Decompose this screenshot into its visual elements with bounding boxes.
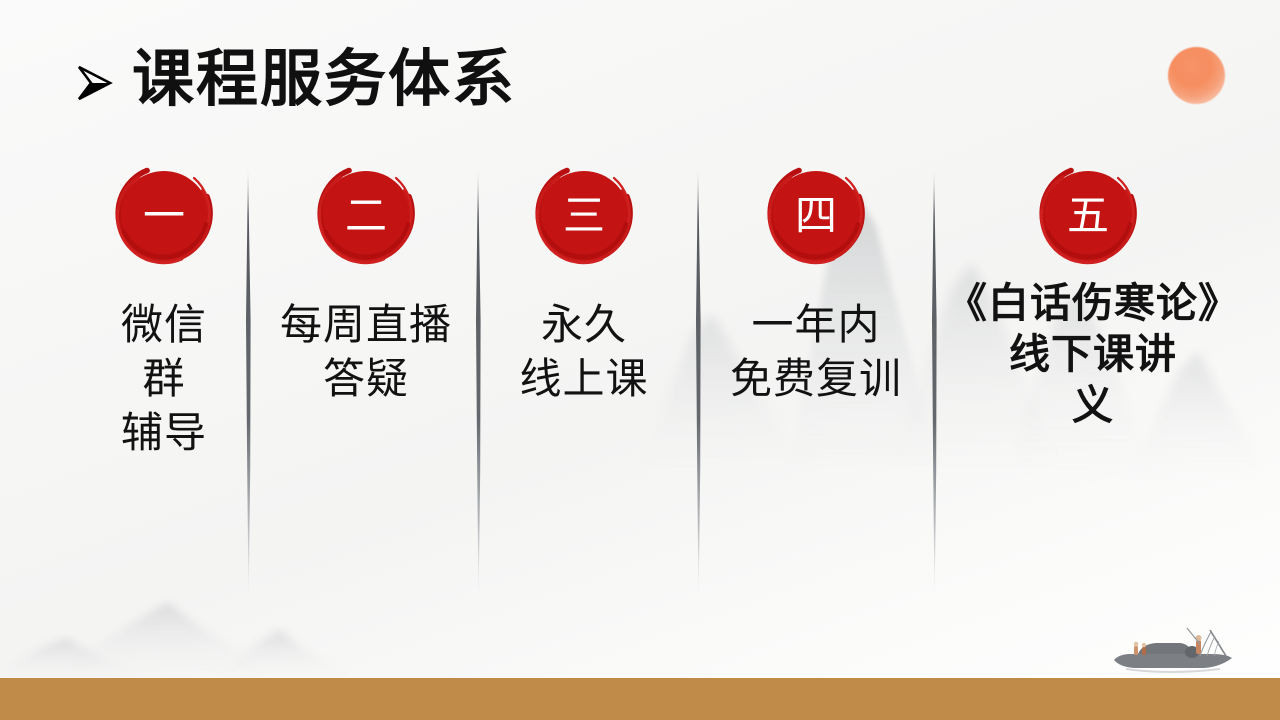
chinese-boat-icon: [1108, 622, 1236, 674]
divider-2: [471, 170, 485, 602]
divider-1: [241, 170, 255, 602]
page-title: 课程服务体系: [70, 48, 516, 110]
column-label: 一年内 免费复训: [720, 298, 912, 406]
arrow-bullet-icon: [70, 59, 116, 105]
page-title-text: 课程服务体系: [132, 48, 516, 110]
seal-circle-icon: 一: [108, 160, 220, 272]
service-column-4[interactable]: 四 一年内 免费复训: [720, 160, 912, 406]
divider-3: [691, 170, 705, 602]
seal-circle-icon: 四: [760, 160, 872, 272]
column-numeral: 三: [528, 160, 640, 272]
seal-circle-icon: 三: [528, 160, 640, 272]
column-numeral: 一: [108, 160, 220, 272]
column-label: 每周直播 答疑: [270, 298, 462, 406]
bottom-color-band: [0, 678, 1280, 720]
service-column-1[interactable]: 一 微信群 辅导: [104, 160, 224, 459]
column-numeral: 二: [310, 160, 422, 272]
slide-canvas: 课程服务体系: [0, 0, 1280, 720]
column-numeral: 四: [760, 160, 872, 272]
sun-icon: [1168, 47, 1225, 104]
service-column-2[interactable]: 二 每周直播 答疑: [270, 160, 462, 406]
column-numeral: 五: [1032, 160, 1144, 272]
column-label: 《白话伤寒论》 线下课讲 义: [938, 278, 1248, 430]
seal-circle-icon: 二: [310, 160, 422, 272]
column-label: 永久 线上课: [496, 298, 672, 406]
service-column-5[interactable]: 五 《白话伤寒论》 线下课讲 义: [938, 160, 1248, 430]
service-columns: 一 微信群 辅导 二 每周直播 答疑 三 永久 线上课 四: [0, 160, 1280, 620]
service-column-3[interactable]: 三 永久 线上课: [496, 160, 672, 406]
seal-circle-icon: 五: [1032, 160, 1144, 272]
column-label: 微信群 辅导: [104, 298, 224, 459]
